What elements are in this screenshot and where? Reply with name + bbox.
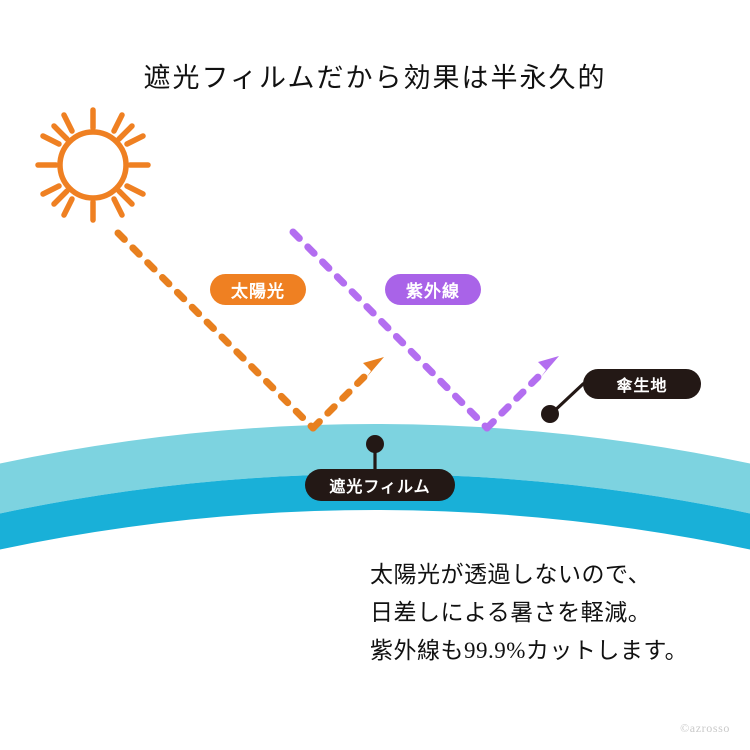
watermark: ©azrosso: [680, 721, 730, 736]
sunlight-ray-arrow: [118, 233, 384, 428]
label-sunlight: 太陽光: [210, 274, 306, 305]
label-uv: 紫外線: [385, 274, 481, 305]
label-umbrella-fabric: 傘生地: [583, 369, 701, 399]
label-shading-film: 遮光フィルム: [305, 469, 455, 501]
infographic-canvas: 遮光フィルムだから効果は半永久的 太陽光 紫外線 傘生地 遮光フィルム 太陽光が…: [0, 0, 750, 750]
body-text-line-3: 紫外線も99.9%カットします。: [370, 632, 688, 670]
uv-ray-arrow: [293, 232, 559, 428]
body-text-line-2: 日差しによる暑さを軽減。: [370, 594, 688, 632]
page-title: 遮光フィルムだから効果は半永久的: [0, 56, 750, 95]
body-text-block: 太陽光が透過しないので、 日差しによる暑さを軽減。 紫外線も99.9%カットしま…: [370, 556, 688, 670]
sun-icon: [38, 110, 148, 220]
body-text-line-1: 太陽光が透過しないので、: [370, 556, 688, 594]
fabric-callout-dot: [541, 384, 583, 423]
